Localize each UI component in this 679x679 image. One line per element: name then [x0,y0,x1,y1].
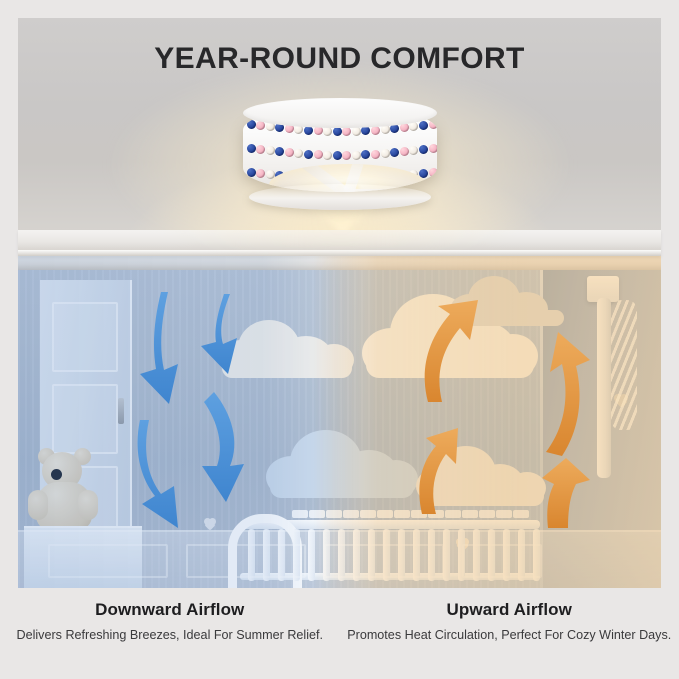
lamp-bottom-rim [249,184,431,210]
bead [371,126,380,135]
door-handle [118,398,124,424]
bead [409,146,418,155]
crib-rail-dash [445,510,461,518]
bead [294,149,303,158]
bead [419,121,428,130]
crib-rail-dash [479,510,495,518]
caption-title: Downward Airflow [0,600,340,620]
bead-row-middle [243,144,437,164]
teddy-bear [34,452,96,530]
caption-subtitle: Delivers Refreshing Breezes, Ideal For S… [0,627,340,645]
bead [342,151,351,160]
heart-decal [204,518,216,529]
crib-rail-dash [462,510,478,518]
bear-arm [78,490,98,520]
bead [361,126,370,135]
bead [285,148,294,157]
bead [256,145,265,154]
bead [361,150,370,159]
crib-rail-dash [428,510,444,518]
crib-rail-dash [292,510,308,518]
lamp-top-ring [243,98,437,128]
crib-rail-dash [513,510,529,518]
bear-eye [51,469,62,480]
cloud-decal [416,442,548,504]
bead [342,127,351,136]
crib-rail-dash [326,510,342,518]
page-title: YEAR-ROUND COMFORT [0,42,679,76]
door-panel [52,384,118,454]
infographic-page: YEAR-ROUND COMFORT [0,0,679,679]
cloud-decal [450,272,568,324]
bead [352,151,361,160]
bead [371,150,380,159]
bead [419,145,428,154]
crib-rail-dash [343,510,359,518]
bead [323,127,332,136]
bead [323,151,332,160]
bead [429,144,437,153]
crib-rail-dash [377,510,393,518]
cloud-decal [266,426,418,498]
bead [381,149,390,158]
bead [247,144,256,153]
curtain-rod [597,298,611,478]
caption-title: Upward Airflow [340,600,679,620]
crib-rail-dash [394,510,410,518]
bead [429,168,437,177]
bead [304,150,313,159]
bead [400,147,409,156]
bead [247,168,256,177]
crib-rail-dash [360,510,376,518]
door-panel [52,302,118,372]
bead [390,148,399,157]
wall-panel [48,544,168,578]
bead [409,122,418,131]
crib-rail-dash [309,510,325,518]
bead [256,169,265,178]
cloud-decal [218,314,358,376]
caption-downward: Downward Airflow Delivers Refreshing Bre… [0,592,340,679]
room-scene [18,252,661,588]
crib-rail-dash [411,510,427,518]
captions-row: Downward Airflow Delivers Refreshing Bre… [0,592,679,679]
bead [247,120,256,129]
caption-subtitle: Promotes Heat Circulation, Perfect For C… [340,627,679,645]
wall-panel [462,544,542,578]
wainscot [18,530,661,588]
bead [314,150,323,159]
crib-rail-dash [496,510,512,518]
wall-panel [324,544,444,578]
caption-upward: Upward Airflow Promotes Heat Circulation… [340,592,679,679]
bead [400,123,409,132]
bead [275,147,284,156]
wall-panel [186,544,306,578]
bead [333,151,342,160]
bead [266,146,275,155]
bead [352,127,361,136]
bead [429,120,437,129]
bear-arm [28,490,48,520]
bead [333,127,342,136]
ceiling-light-fixture [235,96,445,214]
beaded-curtain-tieback [611,300,637,430]
